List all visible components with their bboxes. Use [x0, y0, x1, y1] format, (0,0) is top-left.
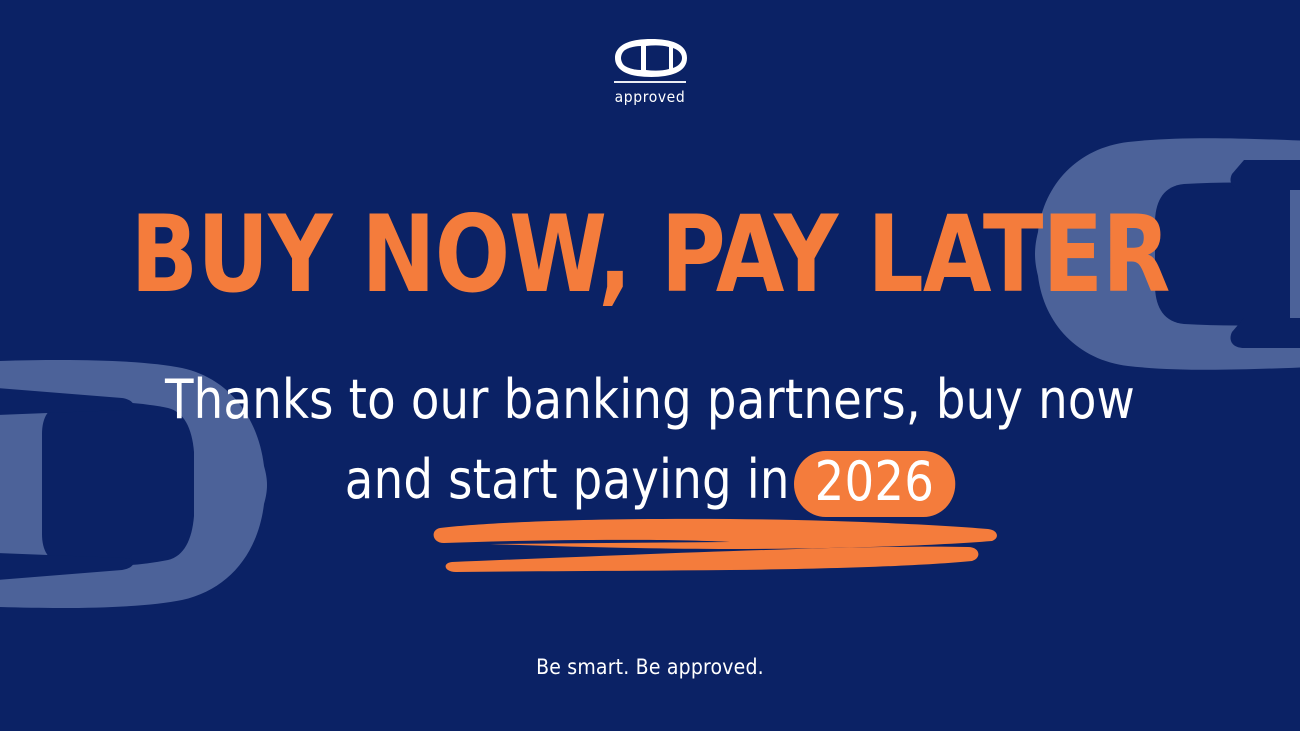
logo-wordmark: approved	[615, 88, 686, 106]
brand-logo: approved	[0, 38, 1300, 106]
year-highlight-badge: 2026	[794, 451, 956, 517]
tagline: Be smart. Be approved.	[0, 655, 1300, 679]
logo-divider-rule	[614, 81, 686, 83]
promotional-banner: approved BUY NOW, PAY LATER Thanks to ou…	[0, 0, 1300, 731]
page-title: BUY NOW, PAY LATER	[46, 196, 1255, 314]
hand-drawn-underline	[430, 516, 1000, 572]
car-top-view-icon	[613, 38, 687, 78]
subtitle-line-1: Thanks to our banking partners, buy now	[26, 360, 1274, 440]
subtitle-line-2-text: and start paying in	[345, 448, 790, 511]
subtitle-line-2: and start paying in2026	[26, 440, 1274, 520]
subtitle: Thanks to our banking partners, buy now …	[0, 360, 1300, 520]
